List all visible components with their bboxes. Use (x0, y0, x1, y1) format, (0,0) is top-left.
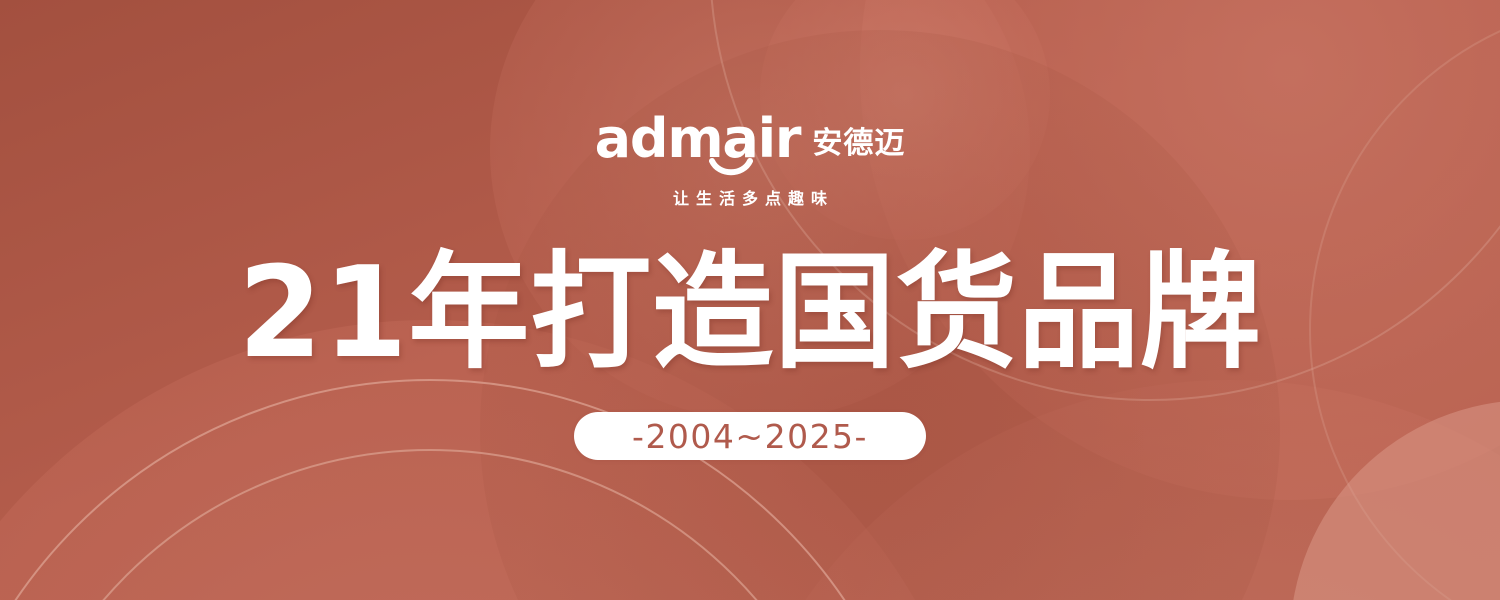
logo-row: admair 安德迈 (595, 104, 906, 166)
logo-wordmark: admair (595, 112, 801, 166)
logo-wordmark-cn: 安德迈 (812, 129, 905, 159)
logo-lockup: admair 安德迈 让生活多点趣味 (0, 104, 1500, 208)
smile-curve-icon (709, 157, 753, 179)
banner-content: admair 安德迈 让生活多点趣味 21年打造国货品牌 -2004~2025- (0, 0, 1500, 600)
headline-text: 21年打造国货品牌 (30, 246, 1470, 380)
brand-anniversary-banner: admair 安德迈 让生活多点趣味 21年打造国货品牌 -2004~2025- (0, 0, 1500, 600)
date-range-badge: -2004~2025- (574, 412, 926, 460)
date-pill-wrapper: -2004~2025- (0, 412, 1500, 460)
brand-tagline: 让生活多点趣味 (666, 190, 834, 208)
